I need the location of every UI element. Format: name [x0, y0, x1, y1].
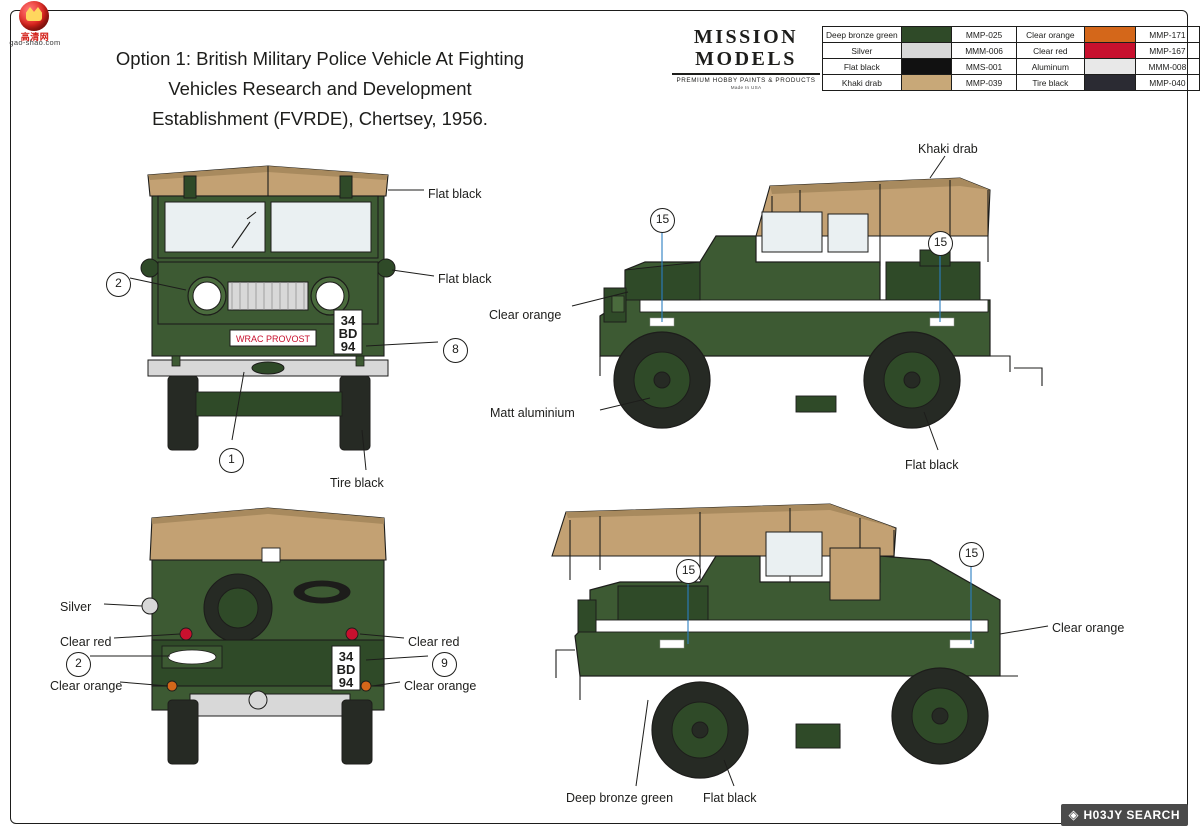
paint-code: MMP-167: [1135, 43, 1199, 59]
paint-code: MMM-008: [1135, 59, 1199, 75]
paint-name: Aluminum: [1016, 59, 1084, 75]
paint-swatch: [901, 75, 952, 91]
paint-reference-table: Deep bronze greenMMP-025Clear orangeMMP-…: [822, 26, 1200, 91]
paint-callout-label: Clear red: [60, 635, 111, 649]
paint-table-row: Flat blackMMS-001AluminumMMM-008: [823, 59, 1200, 75]
paint-code: MMM-006: [952, 43, 1016, 59]
callout-marker[interactable]: 15: [676, 559, 701, 584]
page-title: Option 1: British Military Police Vehicl…: [60, 44, 580, 134]
paint-name: Clear orange: [1016, 27, 1084, 43]
paint-callout-label: Clear orange: [1052, 621, 1124, 635]
paint-code: MMP-039: [952, 75, 1016, 91]
callout-marker[interactable]: 9: [432, 652, 457, 677]
paint-table-row: Khaki drabMMP-039Tire blackMMP-040: [823, 75, 1200, 91]
paint-name: Tire black: [1016, 75, 1084, 91]
paint-callout-label: Flat black: [703, 791, 757, 805]
paint-swatch: [1085, 75, 1136, 91]
callout-marker[interactable]: 8: [443, 338, 468, 363]
paint-swatch: [901, 59, 952, 75]
paint-name: Deep bronze green: [823, 27, 902, 43]
paint-callout-label: Deep bronze green: [566, 791, 673, 805]
callout-marker[interactable]: 1: [219, 448, 244, 473]
paint-callout-label: Silver: [60, 600, 91, 614]
callout-marker[interactable]: 15: [650, 208, 675, 233]
watermark-ball-icon: [19, 1, 49, 31]
brand-line-2: MODELS: [672, 48, 820, 70]
paint-code: MMP-025: [952, 27, 1016, 43]
paint-callout-label: Matt aluminium: [490, 406, 575, 420]
paint-callout-label: Clear orange: [489, 308, 561, 322]
callout-marker[interactable]: 2: [106, 272, 131, 297]
paint-callout-label: Clear orange: [50, 679, 122, 693]
brand-sub: Made In USA: [672, 85, 820, 90]
paint-swatch: [1085, 59, 1136, 75]
callout-marker[interactable]: 15: [928, 231, 953, 256]
title-line-1: Option 1: British Military Police Vehicl…: [60, 44, 580, 74]
watermark-search-text: H03JY SEARCH: [1084, 808, 1180, 822]
paint-table-row: SilverMMM-006Clear redMMP-167: [823, 43, 1200, 59]
paint-callout-label: Clear red: [408, 635, 459, 649]
diamond-icon: ◈: [1069, 807, 1079, 823]
brand-line-1: MISSION: [672, 26, 820, 48]
watermark-bottom-right: ◈ H03JY SEARCH: [1061, 804, 1188, 826]
paint-name: Clear red: [1016, 43, 1084, 59]
paint-callout-label: Tire black: [330, 476, 384, 490]
paint-swatch: [1085, 43, 1136, 59]
paint-code: MMS-001: [952, 59, 1016, 75]
callout-marker[interactable]: 15: [959, 542, 984, 567]
title-line-2: Vehicles Research and Development: [60, 74, 580, 104]
brand-logo: MISSION MODELS PREMIUM HOBBY PAINTS & PR…: [672, 26, 820, 90]
paint-swatch: [1085, 27, 1136, 43]
paint-code: MMP-171: [1135, 27, 1199, 43]
paint-callout-label: Clear orange: [404, 679, 476, 693]
paint-swatch: [901, 43, 952, 59]
paint-callout-label: Flat black: [905, 458, 959, 472]
brand-divider: [672, 73, 820, 75]
paint-callout-label: Khaki drab: [918, 142, 978, 156]
brand-tagline: PREMIUM HOBBY PAINTS & PRODUCTS: [672, 77, 820, 84]
paint-callout-label: Flat black: [428, 187, 482, 201]
watermark-top-left: 高清网 gao-shao.com: [0, 0, 70, 46]
paint-code: MMP-040: [1135, 75, 1199, 91]
paint-swatch: [901, 27, 952, 43]
paint-name: Khaki drab: [823, 75, 902, 91]
paint-callout-label: Flat black: [438, 272, 492, 286]
paint-name: Flat black: [823, 59, 902, 75]
title-line-3: Establishment (FVRDE), Chertsey, 1956.: [60, 104, 580, 134]
callout-marker[interactable]: 2: [66, 652, 91, 677]
paint-table-row: Deep bronze greenMMP-025Clear orangeMMP-…: [823, 27, 1200, 43]
paint-name: Silver: [823, 43, 902, 59]
